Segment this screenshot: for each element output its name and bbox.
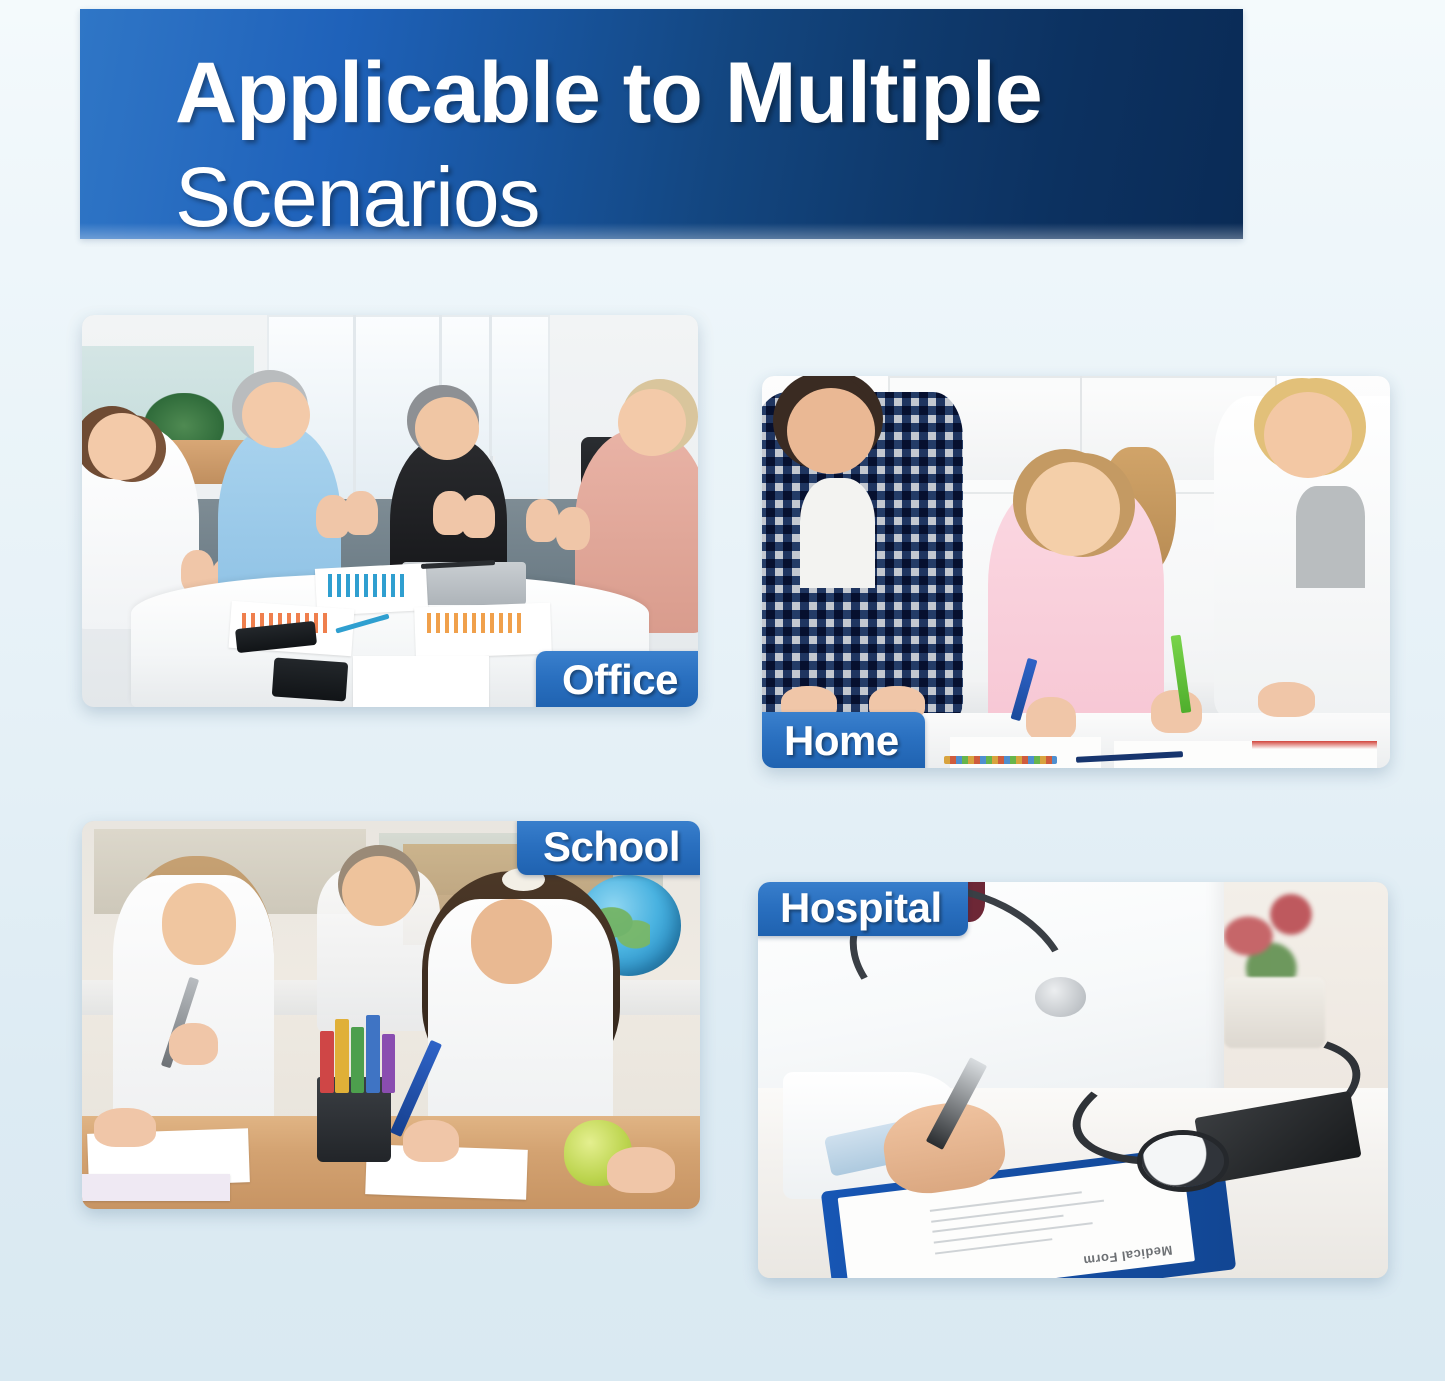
home-girl-head: [1026, 462, 1120, 556]
school-girl-hand: [94, 1108, 156, 1147]
school-boy-head: [342, 856, 416, 926]
home-girl-hand: [1026, 697, 1076, 740]
home-father-undershirt: [800, 478, 875, 588]
hospital-form-title: Medical Form: [1083, 1242, 1174, 1268]
office-person-head: [618, 389, 686, 456]
scenario-label-office: Office: [536, 651, 698, 707]
office-clapping-hand: [461, 495, 495, 538]
school-girl-hand: [607, 1147, 675, 1194]
office-window-mullion: [353, 315, 356, 499]
home-father-head: [787, 388, 875, 474]
office-document: [353, 656, 489, 707]
office-photo: [82, 315, 698, 707]
school-notebook: [82, 1174, 230, 1201]
scenario-label-school: School: [517, 821, 700, 875]
hospital-photo: Medical Form: [758, 882, 1388, 1278]
school-pencil: [351, 1027, 365, 1093]
school-pencil: [320, 1031, 334, 1093]
home-notebook: [1252, 741, 1378, 768]
header-banner: Applicable to Multiple Scenarios: [80, 9, 1243, 239]
school-girl-face: [471, 899, 551, 984]
school-pencil: [382, 1034, 396, 1092]
office-clapping-hand: [556, 507, 590, 550]
school-photo: [82, 821, 700, 1209]
office-clapping-hand: [344, 491, 378, 534]
home-girl-hand: [1151, 690, 1201, 733]
home-colored-pencils: [944, 756, 1057, 764]
office-chart-bars: [328, 574, 408, 598]
scenario-card-office[interactable]: Office: [82, 315, 698, 707]
office-chart-bars: [427, 613, 526, 633]
scenario-card-home[interactable]: Home: [762, 376, 1390, 768]
hospital-stethoscope-chestpiece: [1035, 977, 1085, 1017]
school-girl-hand: [403, 1120, 459, 1163]
office-person-head: [88, 413, 156, 480]
home-photo: [762, 376, 1390, 768]
scenario-card-hospital[interactable]: Medical Form Hospital: [758, 882, 1388, 1278]
school-girl-hand: [169, 1023, 218, 1066]
office-smartphone: [272, 657, 348, 701]
hospital-blood-pressure-gauge: [1142, 1135, 1224, 1186]
banner-title-line-1: Applicable to Multiple: [175, 47, 1042, 139]
scenario-label-home: Home: [762, 712, 925, 768]
home-mother-hand: [1258, 682, 1315, 717]
scenario-label-hospital: Hospital: [758, 882, 968, 936]
office-clapping-hand: [526, 499, 560, 542]
office-person-head: [415, 397, 480, 460]
school-girl-face: [162, 883, 236, 964]
office-person-head: [242, 382, 310, 449]
home-mother-head: [1264, 392, 1352, 478]
school-pencil: [335, 1019, 349, 1093]
banner-title-line-2: Scenarios: [175, 152, 540, 239]
school-pencil: [366, 1015, 380, 1093]
home-mother-top: [1296, 486, 1365, 588]
scenario-card-school[interactable]: School: [82, 821, 700, 1209]
